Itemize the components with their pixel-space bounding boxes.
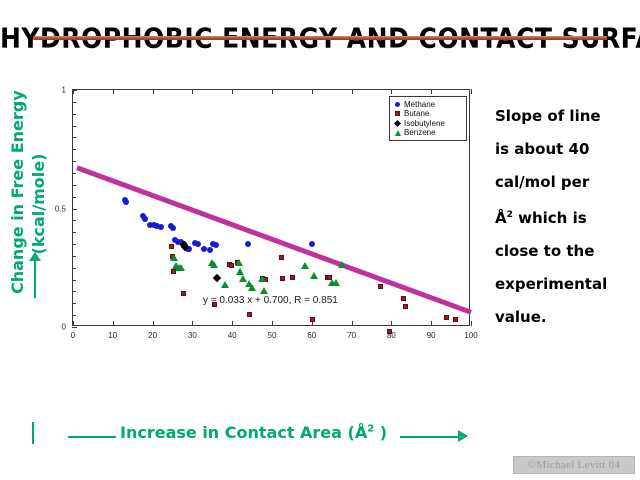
y-tick — [72, 126, 76, 127]
x-tick-top — [352, 89, 353, 94]
copyright-watermark: ©Michael Levitt 04 — [513, 456, 635, 474]
note-line: Å2 which is — [495, 199, 635, 235]
square-marker-icon — [393, 111, 402, 116]
scatter-point — [444, 315, 449, 320]
x-tick-label: 40 — [228, 331, 237, 340]
y-tick-major — [72, 90, 77, 91]
scatter-point — [332, 279, 340, 286]
scatter-point — [213, 242, 219, 248]
y-axis-label-line1: Change in Free Energy — [8, 90, 27, 294]
note-line: value. — [495, 301, 635, 334]
note-line: Slope of line — [495, 100, 635, 133]
slide-root: HYDROPHOBIC ENERGY AND CONTACT SURFACE 0… — [0, 0, 640, 480]
scatter-point — [309, 241, 315, 247]
x-axis-caption-group: Increase in Contact Area (Å2 ) — [60, 423, 480, 453]
y-tick — [72, 268, 76, 269]
x-axis-arrow-shaft — [400, 436, 460, 438]
note-line: cal/mol per — [495, 166, 635, 199]
x-axis-label-text-end: ) — [374, 423, 387, 442]
angstrom-symbol: Å — [495, 209, 507, 227]
scatter-point — [158, 224, 164, 230]
scatter-point — [290, 275, 295, 280]
scatter-point — [170, 225, 176, 231]
x-tick-label: 90 — [427, 331, 436, 340]
legend-item-label: Butane — [404, 109, 429, 118]
y-tick — [72, 232, 76, 233]
regression-equation-annotation: y = 0.033 x + 0.700, R = 0.851 — [203, 295, 338, 306]
y-axis-label: Change in Free Energy (kcal/mole) — [7, 114, 49, 294]
y-tick — [72, 315, 76, 316]
x-tick-top — [192, 89, 193, 94]
y-tick — [72, 102, 76, 103]
x-tick — [471, 321, 472, 326]
scatter-point — [210, 261, 218, 268]
x-tick-label: 0 — [71, 331, 75, 340]
x-tick-label: 100 — [464, 331, 477, 340]
x-tick-top — [471, 89, 472, 94]
y-axis-tail-dash — [32, 422, 34, 444]
x-tick — [272, 321, 273, 326]
scatter-point — [401, 296, 406, 301]
legend-item-benzene: Benzene — [393, 128, 463, 137]
scatter-point — [221, 281, 229, 288]
circle-marker-icon — [393, 102, 402, 107]
legend-item-label: Methane — [404, 100, 435, 109]
scatter-point — [207, 247, 213, 253]
angstrom-symbol: Å — [355, 423, 367, 442]
legend-item-butane: Butane — [393, 109, 463, 118]
x-tick-top — [153, 89, 154, 94]
diamond-marker-icon — [393, 121, 402, 126]
y-tick-major — [72, 327, 77, 328]
scatter-point — [170, 254, 178, 261]
x-tick — [73, 321, 74, 326]
scatter-point — [229, 263, 234, 268]
x-tick — [153, 321, 154, 326]
y-tick — [72, 161, 76, 162]
x-tick — [113, 321, 114, 326]
arrow-right-icon — [458, 430, 468, 442]
x-tick — [352, 321, 353, 326]
scatter-point — [247, 312, 252, 317]
scatter-point — [169, 244, 174, 249]
scatter-point — [248, 284, 256, 291]
scatter-point — [195, 241, 201, 247]
x-tick-top — [391, 89, 392, 94]
x-tick-top — [232, 89, 233, 94]
legend-item-methane: Methane — [393, 100, 463, 109]
y-tick-label: 0 — [62, 323, 66, 332]
y-tick — [72, 244, 76, 245]
scatter-point — [301, 262, 309, 269]
x-axis-label-text: Increase in Contact Area ( — [120, 423, 355, 442]
plot-area: 0102030405060708090100 00.51 y = 0.033 x… — [72, 89, 470, 326]
triangle-marker-icon — [393, 130, 402, 136]
x-tick-top — [431, 89, 432, 94]
x-tick-label: 70 — [347, 331, 356, 340]
x-tick — [391, 321, 392, 326]
y-tick — [72, 291, 76, 292]
x-axis-label: Increase in Contact Area (Å2 ) — [120, 423, 387, 442]
title-underline-rule — [33, 36, 607, 40]
x-tick-top — [113, 89, 114, 94]
x-axis-lead-dash — [68, 436, 116, 438]
scatter-point — [258, 275, 266, 282]
scatter-point — [177, 264, 185, 271]
y-tick — [72, 137, 76, 138]
scatter-point — [378, 284, 383, 289]
scatter-point — [181, 291, 186, 296]
y-tick — [72, 280, 76, 281]
x-tick-label: 30 — [188, 331, 197, 340]
x-tick — [192, 321, 193, 326]
y-tick — [72, 220, 76, 221]
note-line: close to the — [495, 235, 635, 268]
x-tick-top — [312, 89, 313, 94]
x-tick — [431, 321, 432, 326]
y-tick-major — [72, 209, 77, 210]
scatter-point — [260, 287, 268, 294]
note-line: is about 40 — [495, 133, 635, 166]
x-tick-label: 50 — [268, 331, 277, 340]
angstrom-exponent: 2 — [507, 210, 513, 220]
scatter-point — [280, 276, 285, 281]
legend-item-isobutylene: Isobutylene — [393, 119, 463, 128]
y-tick — [72, 173, 76, 174]
scatter-point — [279, 255, 284, 260]
y-tick — [72, 303, 76, 304]
scatter-point — [235, 259, 243, 266]
x-tick — [232, 321, 233, 326]
x-tick-label: 80 — [387, 331, 396, 340]
x-tick-label: 10 — [108, 331, 117, 340]
y-tick-label: 1 — [62, 86, 66, 95]
x-tick-top — [272, 89, 273, 94]
y-axis-label-line2: (kcal/mole) — [28, 114, 49, 294]
chart-container: 0102030405060708090100 00.51 y = 0.033 x… — [0, 78, 480, 378]
y-tick — [72, 185, 76, 186]
scatter-point — [236, 268, 244, 275]
scatter-point — [310, 272, 318, 279]
chart-legend: MethaneButaneIsobutyleneBenzene — [389, 96, 467, 141]
slope-note-text: Slope of lineis about 40cal/mol perÅ2 wh… — [495, 100, 635, 334]
scatter-point — [338, 261, 346, 268]
scatter-point — [403, 304, 408, 309]
note-line: experimental — [495, 268, 635, 301]
scatter-point — [453, 317, 458, 322]
legend-item-label: Benzene — [404, 128, 436, 137]
x-tick — [312, 321, 313, 326]
x-tick-label: 20 — [148, 331, 157, 340]
y-tick — [72, 149, 76, 150]
legend-item-label: Isobutylene — [404, 119, 445, 128]
y-tick — [72, 114, 76, 115]
y-tick — [72, 256, 76, 257]
y-tick — [72, 197, 76, 198]
x-tick-label: 60 — [307, 331, 316, 340]
